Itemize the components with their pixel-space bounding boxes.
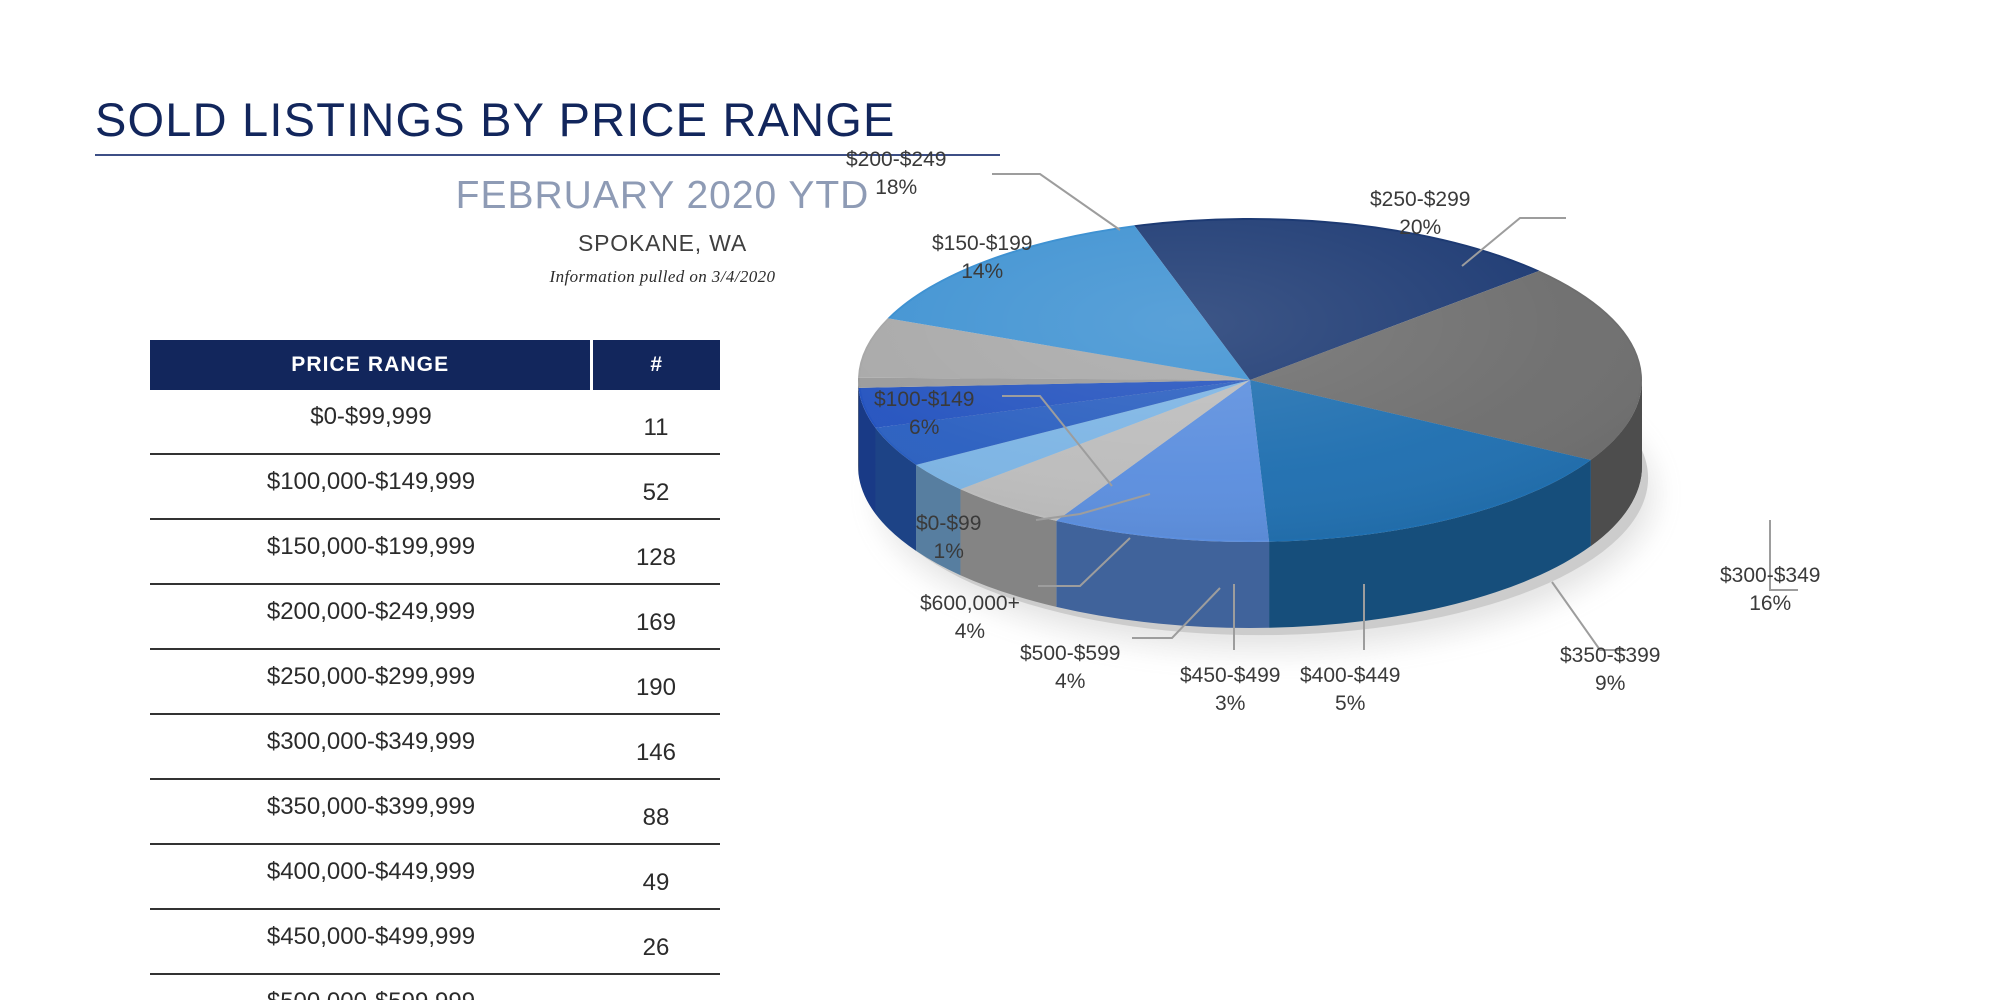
pie-label-0-99: $0-$99 1%: [916, 510, 981, 565]
slide-root: SOLD LISTINGS BY PRICE RANGE FEBRUARY 20…: [0, 0, 2000, 1000]
cell-count: 190: [592, 649, 720, 714]
table-row: $150,000-$199,999128: [150, 519, 720, 584]
pie-label-150-199: $150-$199 14%: [932, 230, 1032, 285]
cell-price-range: $350,000-$399,999: [150, 779, 592, 844]
cell-price-range: $500,000-$599,999: [150, 974, 592, 1000]
cell-price-range: $0-$99,999: [150, 390, 592, 454]
pie-label-350-399: $350-$399 9%: [1560, 642, 1660, 697]
cell-count: 26: [592, 909, 720, 974]
leader-line-0: [992, 174, 1120, 230]
cell-price-range: $400,000-$449,999: [150, 844, 592, 909]
table-row: $250,000-$299,999190: [150, 649, 720, 714]
table-row: $200,000-$249,999169: [150, 584, 720, 649]
pie-label-300-349: $300-$349 16%: [1720, 562, 1820, 617]
pie-label-200-249: $200-$249 18%: [846, 146, 946, 201]
pie-label-450-499: $450-$499 3%: [1180, 662, 1280, 717]
cell-price-range: $250,000-$299,999: [150, 649, 592, 714]
pie-chart: $200-$249 18% $250-$299 20% $300-$349 16…: [720, 90, 2000, 970]
table-row: $350,000-$399,99988: [150, 779, 720, 844]
cell-price-range: $300,000-$349,999: [150, 714, 592, 779]
table-body: $0-$99,99911$100,000-$149,99952$150,000-…: [150, 390, 720, 1000]
pie-label-500-599: $500-$599 4%: [1020, 640, 1120, 695]
table-row: $100,000-$149,99952: [150, 454, 720, 519]
table-row: $500,000-$599,99942: [150, 974, 720, 1000]
pie-chart-svg: [720, 90, 2000, 970]
cell-price-range: $200,000-$249,999: [150, 584, 592, 649]
cell-price-range: $150,000-$199,999: [150, 519, 592, 584]
cell-price-range: $100,000-$149,999: [150, 454, 592, 519]
cell-count: 11: [592, 390, 720, 454]
cell-count: 88: [592, 779, 720, 844]
pie-label-400-449: $400-$449 5%: [1300, 662, 1400, 717]
table-row: $400,000-$449,99949: [150, 844, 720, 909]
cell-price-range: $450,000-$499,999: [150, 909, 592, 974]
cell-count: 128: [592, 519, 720, 584]
pie-label-600000-plus: $600,000+ 4%: [920, 590, 1020, 645]
table-row: $300,000-$349,999146: [150, 714, 720, 779]
column-header-count: #: [592, 340, 720, 390]
leader-line-3: [1552, 582, 1626, 650]
cell-count: 146: [592, 714, 720, 779]
table-row: $450,000-$499,99926: [150, 909, 720, 974]
table-row: $0-$99,99911: [150, 390, 720, 454]
pie-label-250-299: $250-$299 20%: [1370, 186, 1470, 241]
cell-count: 169: [592, 584, 720, 649]
cell-count: 49: [592, 844, 720, 909]
column-header-price-range: PRICE RANGE: [150, 340, 592, 390]
cell-count: 42: [592, 974, 720, 1000]
table-header-row: PRICE RANGE #: [150, 340, 720, 390]
pie-label-100-149: $100-$149 6%: [874, 386, 974, 441]
price-range-table: PRICE RANGE # $0-$99,99911$100,000-$149,…: [150, 340, 720, 1000]
cell-count: 52: [592, 454, 720, 519]
